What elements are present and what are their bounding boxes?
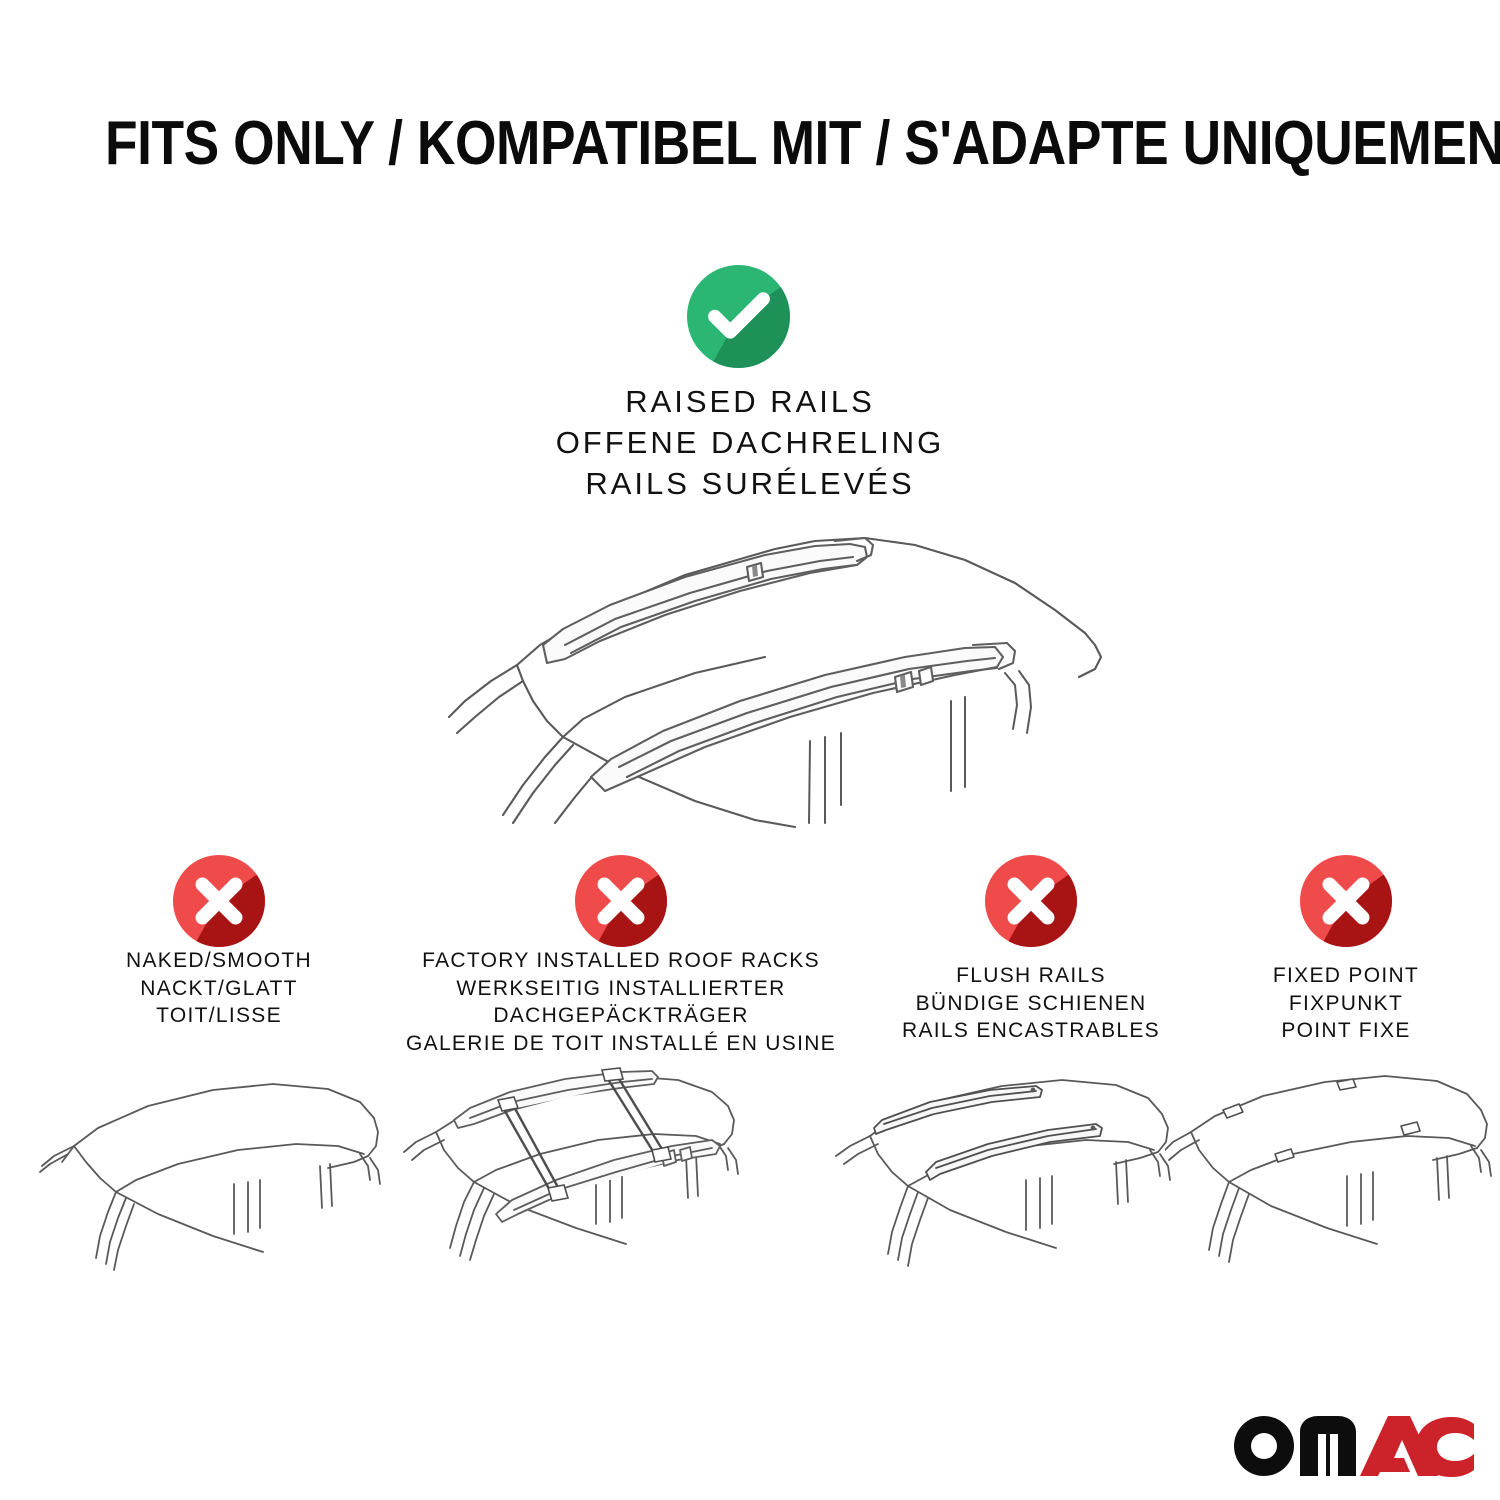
x-circle-icon-flush-rails <box>985 855 1077 947</box>
caption-fixed-point: FIXED POINT FIXPUNKT POINT FIXE <box>1176 962 1500 1045</box>
flush-rails-line-3: RAILS ENCASTRABLES <box>851 1017 1211 1045</box>
compatible-caption: RAISED RAILS OFFENE DACHRELING RAILS SUR… <box>0 382 1500 505</box>
x-glyph <box>173 855 265 947</box>
x-glyph <box>985 855 1077 947</box>
check-glyph <box>687 265 790 368</box>
omac-logo <box>1232 1410 1474 1478</box>
x-circle-icon-factory-racks <box>575 855 667 947</box>
factory-racks-line-3: DACHGEPÄCKTRÄGER <box>401 1002 841 1030</box>
naked-smooth-line-1: NAKED/SMOOTH <box>19 947 419 975</box>
logo-letter-m <box>1300 1416 1356 1476</box>
naked-smooth-line-2: NACKT/GLATT <box>19 975 419 1003</box>
x-circle-icon-fixed-point <box>1300 855 1392 947</box>
car-roof-flush-rails-illustration <box>830 1062 1190 1297</box>
compatible-line-3: RAILS SURÉLEVÉS <box>0 464 1500 505</box>
flush-rails-line-1: FLUSH RAILS <box>851 962 1211 990</box>
caption-factory-racks: FACTORY INSTALLED ROOF RACKS WERKSEITIG … <box>401 947 841 1058</box>
fixed-point-line-2: FIXPUNKT <box>1176 990 1500 1018</box>
flush-rails-line-2: BÜNDIGE SCHIENEN <box>851 990 1211 1018</box>
fixed-point-line-3: POINT FIXE <box>1176 1017 1500 1045</box>
car-roof-fixed-point-illustration <box>1165 1062 1500 1297</box>
check-circle-icon <box>687 265 790 368</box>
caption-flush-rails: FLUSH RAILS BÜNDIGE SCHIENEN RAILS ENCAS… <box>851 962 1211 1045</box>
factory-racks-line-2: WERKSEITIG INSTALLIERTER <box>401 975 841 1003</box>
factory-racks-line-4: GALERIE DE TOIT INSTALLÉ EN USINE <box>401 1030 841 1058</box>
fixed-point-line-1: FIXED POINT <box>1176 962 1500 990</box>
x-glyph <box>1300 855 1392 947</box>
x-circle-icon-naked-smooth <box>173 855 265 947</box>
logo-letter-o <box>1234 1416 1294 1476</box>
car-roof-raised-rails-illustration <box>395 505 1115 830</box>
car-roof-naked-smooth-illustration <box>38 1062 398 1297</box>
caption-naked-smooth: NAKED/SMOOTH NACKT/GLATT TOIT/LISSE <box>19 947 419 1030</box>
compatible-line-1: RAISED RAILS <box>0 382 1500 423</box>
fitment-guide-page: FITS ONLY / KOMPATIBEL MIT / S'ADAPTE UN… <box>0 0 1500 1500</box>
x-glyph <box>575 855 667 947</box>
factory-racks-line-1: FACTORY INSTALLED ROOF RACKS <box>401 947 841 975</box>
page-title: FITS ONLY / KOMPATIBEL MIT / S'ADAPTE UN… <box>105 108 1395 179</box>
car-roof-factory-racks-illustration <box>400 1062 760 1297</box>
compatible-line-2: OFFENE DACHRELING <box>0 423 1500 464</box>
naked-smooth-line-3: TOIT/LISSE <box>19 1002 419 1030</box>
